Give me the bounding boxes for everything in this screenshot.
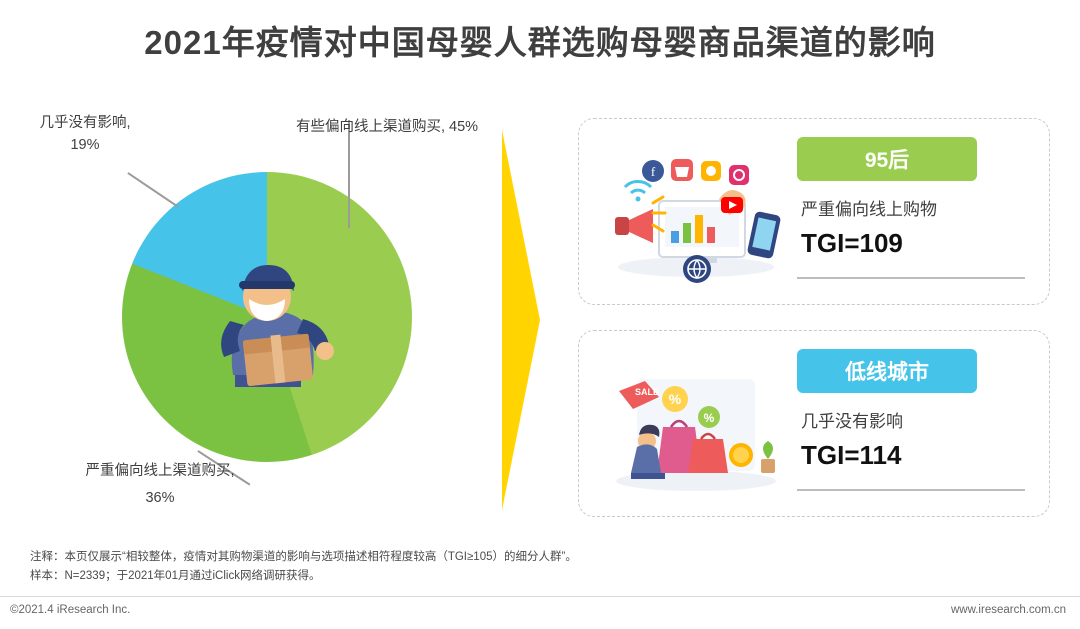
footer-divider <box>0 596 1080 597</box>
courier-illustration <box>175 225 365 415</box>
card-lowtier-content: 低线城市 几乎没有影响 TGI=114 <box>797 349 1029 471</box>
card-95hou-subtitle: 严重偏向线上购物 <box>801 195 1029 220</box>
card-95hou-badge: 95后 <box>797 137 977 181</box>
svg-text:%: % <box>704 411 715 425</box>
footnote-1: 注释：本页仅展示“相较整体，疫情对其购物渠道的影响与选项描述相符程度较高（TGI… <box>30 548 577 567</box>
card-95hou-content: 95后 严重偏向线上购物 TGI=109 <box>797 137 1029 259</box>
card-lowtier-tgi: TGI=114 <box>801 440 1029 471</box>
copyright: ©2021.4 iResearch Inc. <box>10 604 130 616</box>
card-lowtier-city[interactable]: SALE % % 低线城市 几乎没有影响 TGI=114 <box>578 330 1050 517</box>
shopping-bags-illustration: SALE % % <box>601 355 791 495</box>
pie-label-left-line1: 几乎没有影响, <box>20 112 150 134</box>
pie-chart <box>80 150 500 490</box>
card-lowtier-badge: 低线城市 <box>797 349 977 393</box>
svg-text:f: f <box>651 164 656 179</box>
svg-text:%: % <box>669 391 682 407</box>
pie-label-left-line2: 19% <box>20 134 150 156</box>
pie-label-top: 有些偏向线上渠道购买, 45% <box>296 116 478 138</box>
online-shopping-illustration: f <box>601 143 791 283</box>
card-95hou-tgi: TGI=109 <box>801 228 1029 259</box>
card-lowtier-divider <box>797 489 1025 491</box>
footnotes: 注释：本页仅展示“相较整体，疫情对其购物渠道的影响与选项描述相符程度较高（TGI… <box>30 548 577 586</box>
card-95hou[interactable]: f 95后 严重偏向线上购物 TGI=109 <box>578 118 1050 305</box>
page-title: 2021年疫情对中国母婴人群选购母婴商品渠道的影响 <box>0 16 1080 64</box>
pie-label-bottom-line1: 严重偏向线上渠道购买, <box>50 460 270 482</box>
footnote-2: 样本：N=2339；于2021年01月通过iClick网络调研获得。 <box>30 567 577 586</box>
card-lowtier-subtitle: 几乎没有影响 <box>801 407 1029 432</box>
arrow-right-icon <box>500 130 562 510</box>
pie-label-bottom-line2: 36% <box>50 487 270 509</box>
website-url: www.iresearch.com.cn <box>951 604 1066 616</box>
card-95hou-divider <box>797 277 1025 279</box>
svg-text:SALE: SALE <box>635 387 659 397</box>
leader-line-left <box>128 172 179 207</box>
